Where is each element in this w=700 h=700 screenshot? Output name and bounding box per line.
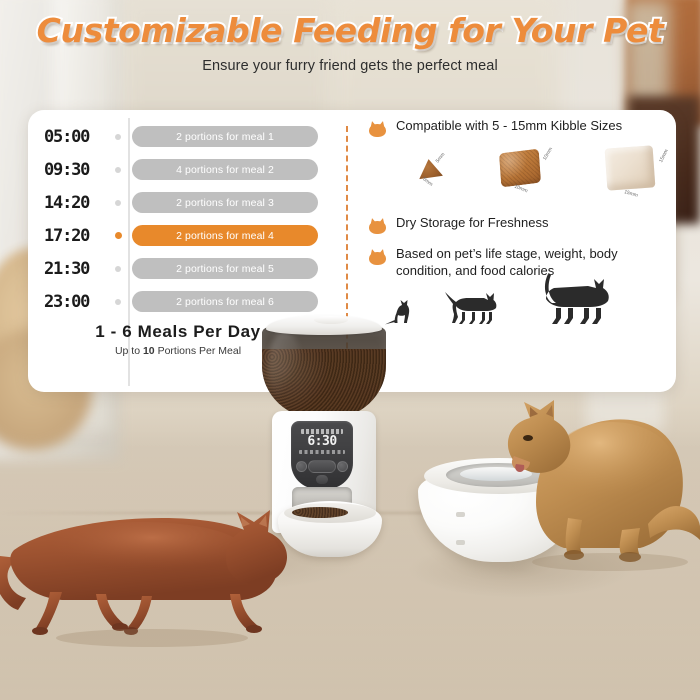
- feed-button[interactable]: [308, 460, 336, 473]
- timeline-dot-wrap: [108, 219, 128, 252]
- schedule-row-active[interactable]: 17:20 2 portions for meal 4: [36, 219, 328, 252]
- timeline-dot-wrap: [108, 120, 128, 153]
- feature-label: Compatible with 5 - 15mm Kibble Sizes: [396, 118, 622, 135]
- power-button[interactable]: [337, 461, 348, 472]
- timeline-dot-active-icon: [115, 232, 122, 239]
- confirm-button[interactable]: [316, 475, 328, 484]
- adult-cat-silhouette-icon: [444, 286, 506, 328]
- timeline-dot-wrap: [108, 252, 128, 285]
- feeder-lid[interactable]: [266, 315, 382, 335]
- hopper-gloss: [268, 331, 302, 401]
- lcd-indicator-bottom: [299, 450, 345, 454]
- meal-time: 23:00: [36, 292, 108, 312]
- meal-time: 05:00: [36, 127, 108, 147]
- features-list: Compatible with 5 - 15mm Kibble Sizes 5m…: [368, 118, 666, 279]
- meal-time: 09:30: [36, 160, 108, 180]
- header: Customizable Feeding for Your Pet Ensure…: [0, 0, 700, 96]
- timeline-dot-icon: [115, 167, 121, 173]
- feature-item-dry-storage: Dry Storage for Freshness: [368, 215, 666, 234]
- lid-knob[interactable]: [314, 316, 348, 324]
- square-kibble-icon: 10mm 10mm: [500, 151, 552, 199]
- timeline-dot-icon: [115, 200, 121, 206]
- schedule-row[interactable]: 14:20 2 portions for meal 3: [36, 186, 328, 219]
- meal-time: 21:30: [36, 259, 108, 279]
- cat-head-icon: [368, 249, 387, 265]
- lcd-time-display: 6:30: [291, 434, 353, 449]
- feature-item-kibble-size: Compatible with 5 - 15mm Kibble Sizes: [368, 118, 666, 137]
- kibble-size-samples: 5mm 5mm 10mm 10mm 15mm 15mm: [390, 143, 666, 209]
- timeline-dot-wrap: [108, 285, 128, 318]
- automatic-pet-feeder: 6:30: [258, 315, 390, 570]
- portions-suffix: Portions Per Meal: [155, 345, 241, 357]
- page-subtitle: Ensure your furry friend gets the perfec…: [0, 58, 700, 74]
- meal-portion-pill[interactable]: 2 portions for meal 5: [132, 258, 318, 279]
- fountain-badge-upper: [456, 512, 465, 517]
- timeline-dot-wrap: [108, 186, 128, 219]
- schedule-row[interactable]: 23:00 2 portions for meal 6: [36, 285, 328, 318]
- page-title: Customizable Feeding for Your Pet: [0, 0, 700, 50]
- cat-head-icon: [368, 121, 387, 137]
- schedule-row[interactable]: 05:00 2 portions for meal 1: [36, 120, 328, 153]
- feature-label: Dry Storage for Freshness: [396, 215, 548, 232]
- feeder-control-panel[interactable]: 6:30: [291, 421, 353, 489]
- cat-head-icon: [368, 218, 387, 234]
- drinking-golden-cat: [490, 398, 700, 584]
- settings-button[interactable]: [296, 461, 307, 472]
- timeline-dot-icon: [115, 134, 121, 140]
- kibble-label: 5mm: [435, 152, 447, 164]
- kibble-label: 15mm: [658, 148, 669, 163]
- kibble-label: 15mm: [623, 189, 638, 199]
- triangle-kibble-icon: 5mm 5mm: [418, 159, 444, 183]
- schedule-rows: 05:00 2 portions for meal 1 09:30 4 port…: [36, 120, 328, 318]
- meal-time: 14:20: [36, 193, 108, 213]
- large-cat-silhouette-icon: [534, 272, 620, 328]
- timeline-dot-icon: [115, 299, 121, 305]
- meal-time: 17:20: [36, 226, 108, 246]
- timeline-dot-icon: [115, 266, 121, 272]
- kibble-label: 10mm: [542, 146, 554, 161]
- schedule-row[interactable]: 09:30 4 portions for meal 2: [36, 153, 328, 186]
- schedule-row[interactable]: 21:30 2 portions for meal 5: [36, 252, 328, 285]
- meal-portion-pill[interactable]: 2 portions for meal 1: [132, 126, 318, 147]
- meal-portion-pill[interactable]: 2 portions for meal 3: [132, 192, 318, 213]
- portions-prefix: Up to: [115, 345, 143, 357]
- bowl-kibble: [292, 507, 348, 518]
- cube-kibble-icon: 15mm 15mm: [606, 147, 672, 205]
- timeline-dot-wrap: [108, 153, 128, 186]
- fountain-badge-lower: [456, 540, 465, 545]
- kibble-label: 5mm: [421, 176, 433, 188]
- feeder-hopper: [262, 327, 386, 419]
- cat-size-silhouettes: [368, 266, 668, 328]
- meal-portion-pill[interactable]: 2 portions for meal 6: [132, 291, 318, 312]
- meal-portion-pill-active[interactable]: 2 portions for meal 4: [132, 225, 318, 246]
- meal-portion-pill[interactable]: 4 portions for meal 2: [132, 159, 318, 180]
- kibble-label: 10mm: [513, 184, 528, 195]
- portions-count: 10: [143, 345, 155, 357]
